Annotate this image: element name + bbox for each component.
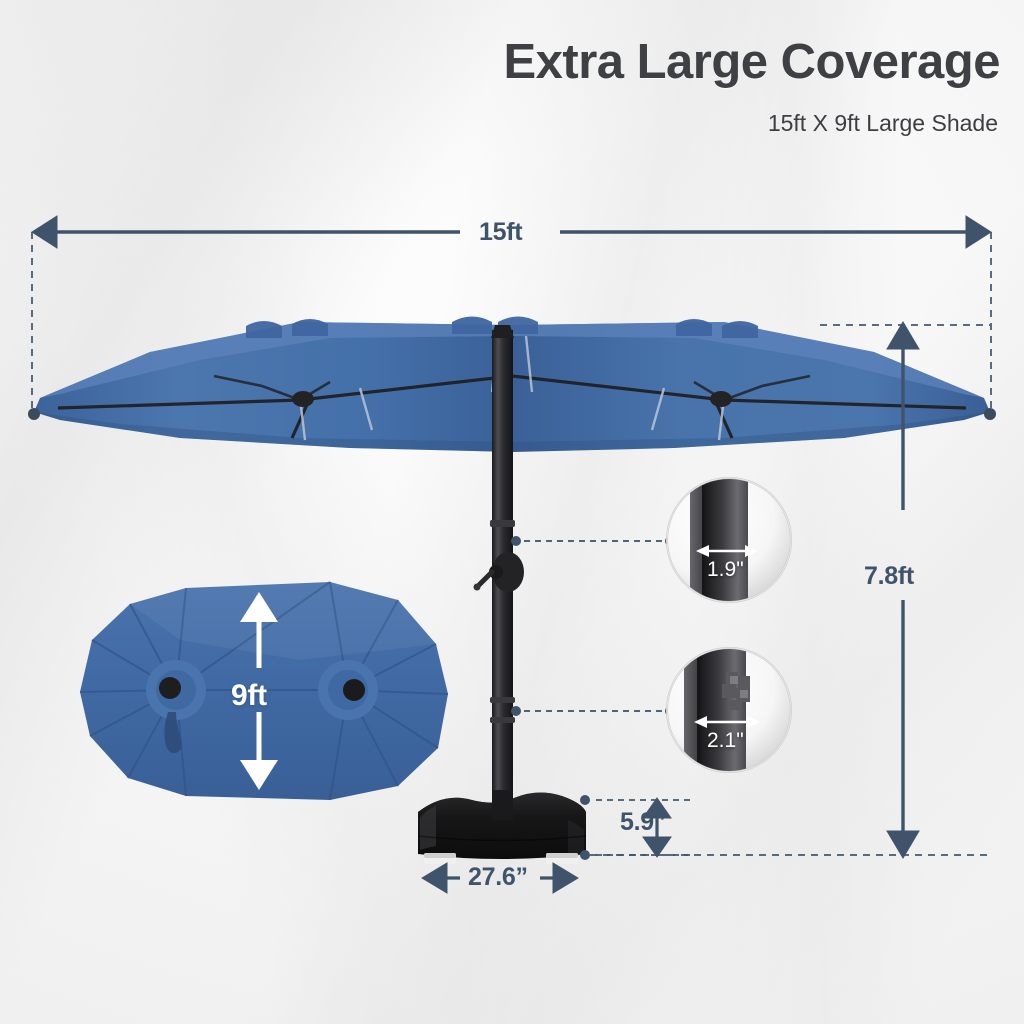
dimension-label-base-height: 5.9” bbox=[620, 808, 666, 837]
crank-handle bbox=[474, 552, 525, 592]
callout-leader-lower bbox=[511, 706, 675, 716]
callout-label-lower-pole-diameter: 2.1" bbox=[707, 729, 744, 753]
callout-leader-upper bbox=[511, 536, 675, 546]
umbrella-base bbox=[418, 790, 586, 864]
dimension-label-base-width: 27.6” bbox=[468, 863, 528, 892]
infographic-canvas: Extra Large Coverage 15ft X 9ft Large Sh… bbox=[0, 0, 1024, 1024]
page-subtitle: 15ft X 9ft Large Shade bbox=[768, 110, 998, 137]
page-title: Extra Large Coverage bbox=[503, 34, 1000, 90]
topview-hub-right bbox=[318, 660, 378, 720]
callout-circle-upper bbox=[667, 478, 791, 602]
dimension-label-height: 7.8ft bbox=[864, 562, 914, 591]
callout-label-upper-pole-diameter: 1.9" bbox=[707, 558, 744, 582]
dimension-label-depth: 9ft bbox=[231, 679, 267, 713]
callout-circle-lower bbox=[667, 648, 791, 772]
dimension-label-width: 15ft bbox=[479, 218, 522, 247]
